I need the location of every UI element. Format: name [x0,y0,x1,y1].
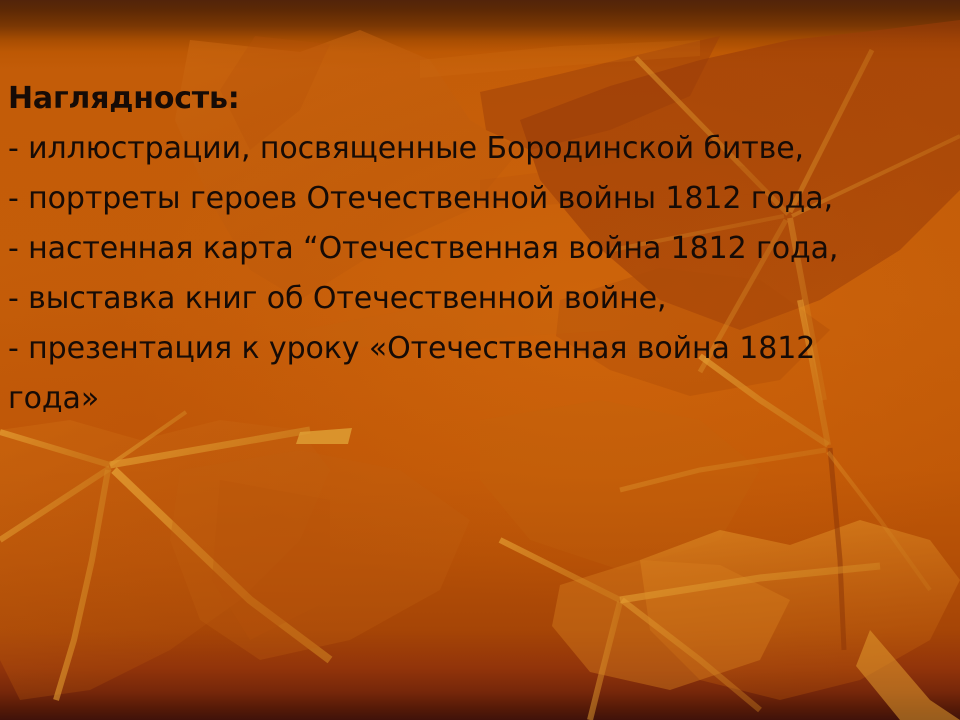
bullet-line-5: - презентация к уроку «Отечественная вой… [8,324,956,374]
slide-body-text: Наглядность: - иллюстрации, посвященные … [8,74,956,424]
bullet-line-5-continuation: года» [8,374,956,424]
bullet-line-1: - иллюстрации, посвященные Бородинской б… [8,124,956,174]
bullet-line-4: - выставка книг об Отечественной войне, [8,274,956,324]
bullet-line-3: - настенная карта “Отечественная война 1… [8,224,956,274]
presentation-slide: Наглядность: - иллюстрации, посвященные … [0,0,960,720]
slide-title: Наглядность: [8,74,956,124]
bullet-line-2: - портреты героев Отечественной войны 18… [8,174,956,224]
